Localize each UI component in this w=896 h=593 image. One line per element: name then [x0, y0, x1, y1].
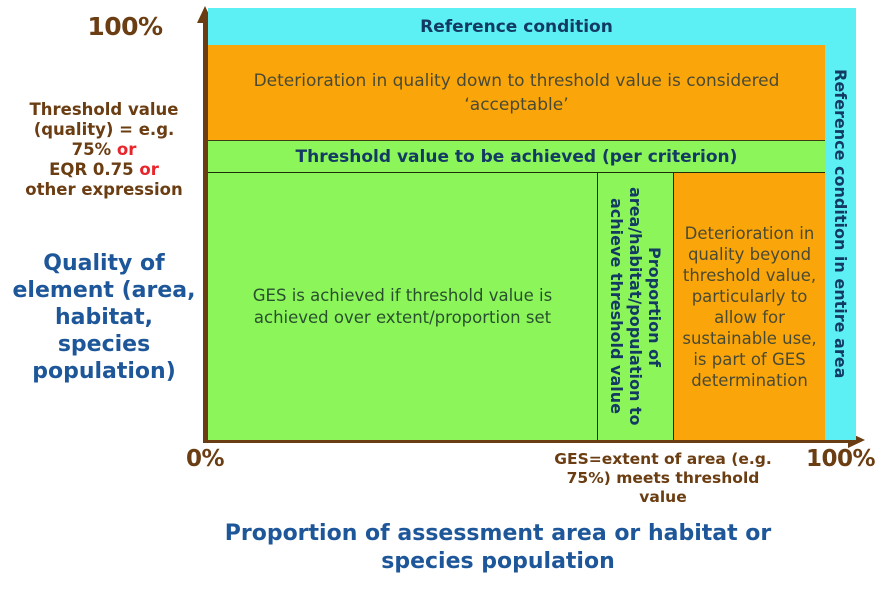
band-ges-achieved-label: GES is achieved if threshold value is ac…	[208, 285, 597, 329]
x-axis-max-label: 100%	[806, 446, 875, 472]
diagram-plot-area: Reference condition Deterioration in qua…	[208, 8, 856, 440]
threshold-note-line-2: (quality) = e.g.	[6, 120, 202, 140]
x-axis-zero-label: 0%	[186, 446, 224, 472]
threshold-note-line-3: 75% or	[6, 140, 202, 160]
band-deterioration-beyond-label: Deterioration in quality beyond threshol…	[674, 223, 825, 391]
band-reference-condition: Reference condition	[208, 8, 825, 45]
threshold-note-line-5: other expression	[6, 180, 202, 200]
threshold-note-line-4: EQR 0.75 or	[6, 160, 202, 180]
or-keyword-1: or	[117, 140, 136, 159]
band-reference-condition-entire-area: Reference condition in entire area	[825, 8, 856, 440]
ges-extent-note: GES=extent of area (e.g. 75%) meets thre…	[548, 450, 778, 507]
band-reference-condition-label: Reference condition	[420, 17, 613, 37]
or-keyword-2: or	[139, 160, 158, 179]
threshold-pct: 75%	[72, 140, 117, 159]
band-threshold-to-achieve-label: Threshold value to be achieved (per crit…	[296, 147, 738, 167]
band-ges-achieved: GES is achieved if threshold value is ac…	[208, 173, 597, 440]
band-deterioration-beyond: Deterioration in quality beyond threshol…	[673, 173, 825, 440]
threshold-note-line-1: Threshold value	[6, 100, 202, 120]
band-reference-condition-entire-area-label: Reference condition in entire area	[831, 69, 850, 378]
threshold-value-note: Threshold value (quality) = e.g. 75% or …	[6, 100, 202, 200]
y-axis-max-label: 100%	[60, 12, 190, 41]
band-deterioration-acceptable: Deterioration in quality down to thresho…	[208, 45, 825, 141]
threshold-eqr: EQR 0.75	[49, 160, 139, 179]
band-proportion-column-label: Proportion of area/habitat/population to…	[607, 187, 664, 427]
band-deterioration-acceptable-label: Deterioration in quality down to thresho…	[208, 69, 825, 117]
y-axis-title: Quality of element (area, habitat, speci…	[6, 250, 202, 385]
x-axis-title: Proportion of assessment area or habitat…	[196, 520, 800, 576]
band-proportion-column: Proportion of area/habitat/population to…	[597, 173, 673, 440]
band-threshold-to-achieve: Threshold value to be achieved (per crit…	[208, 141, 825, 173]
